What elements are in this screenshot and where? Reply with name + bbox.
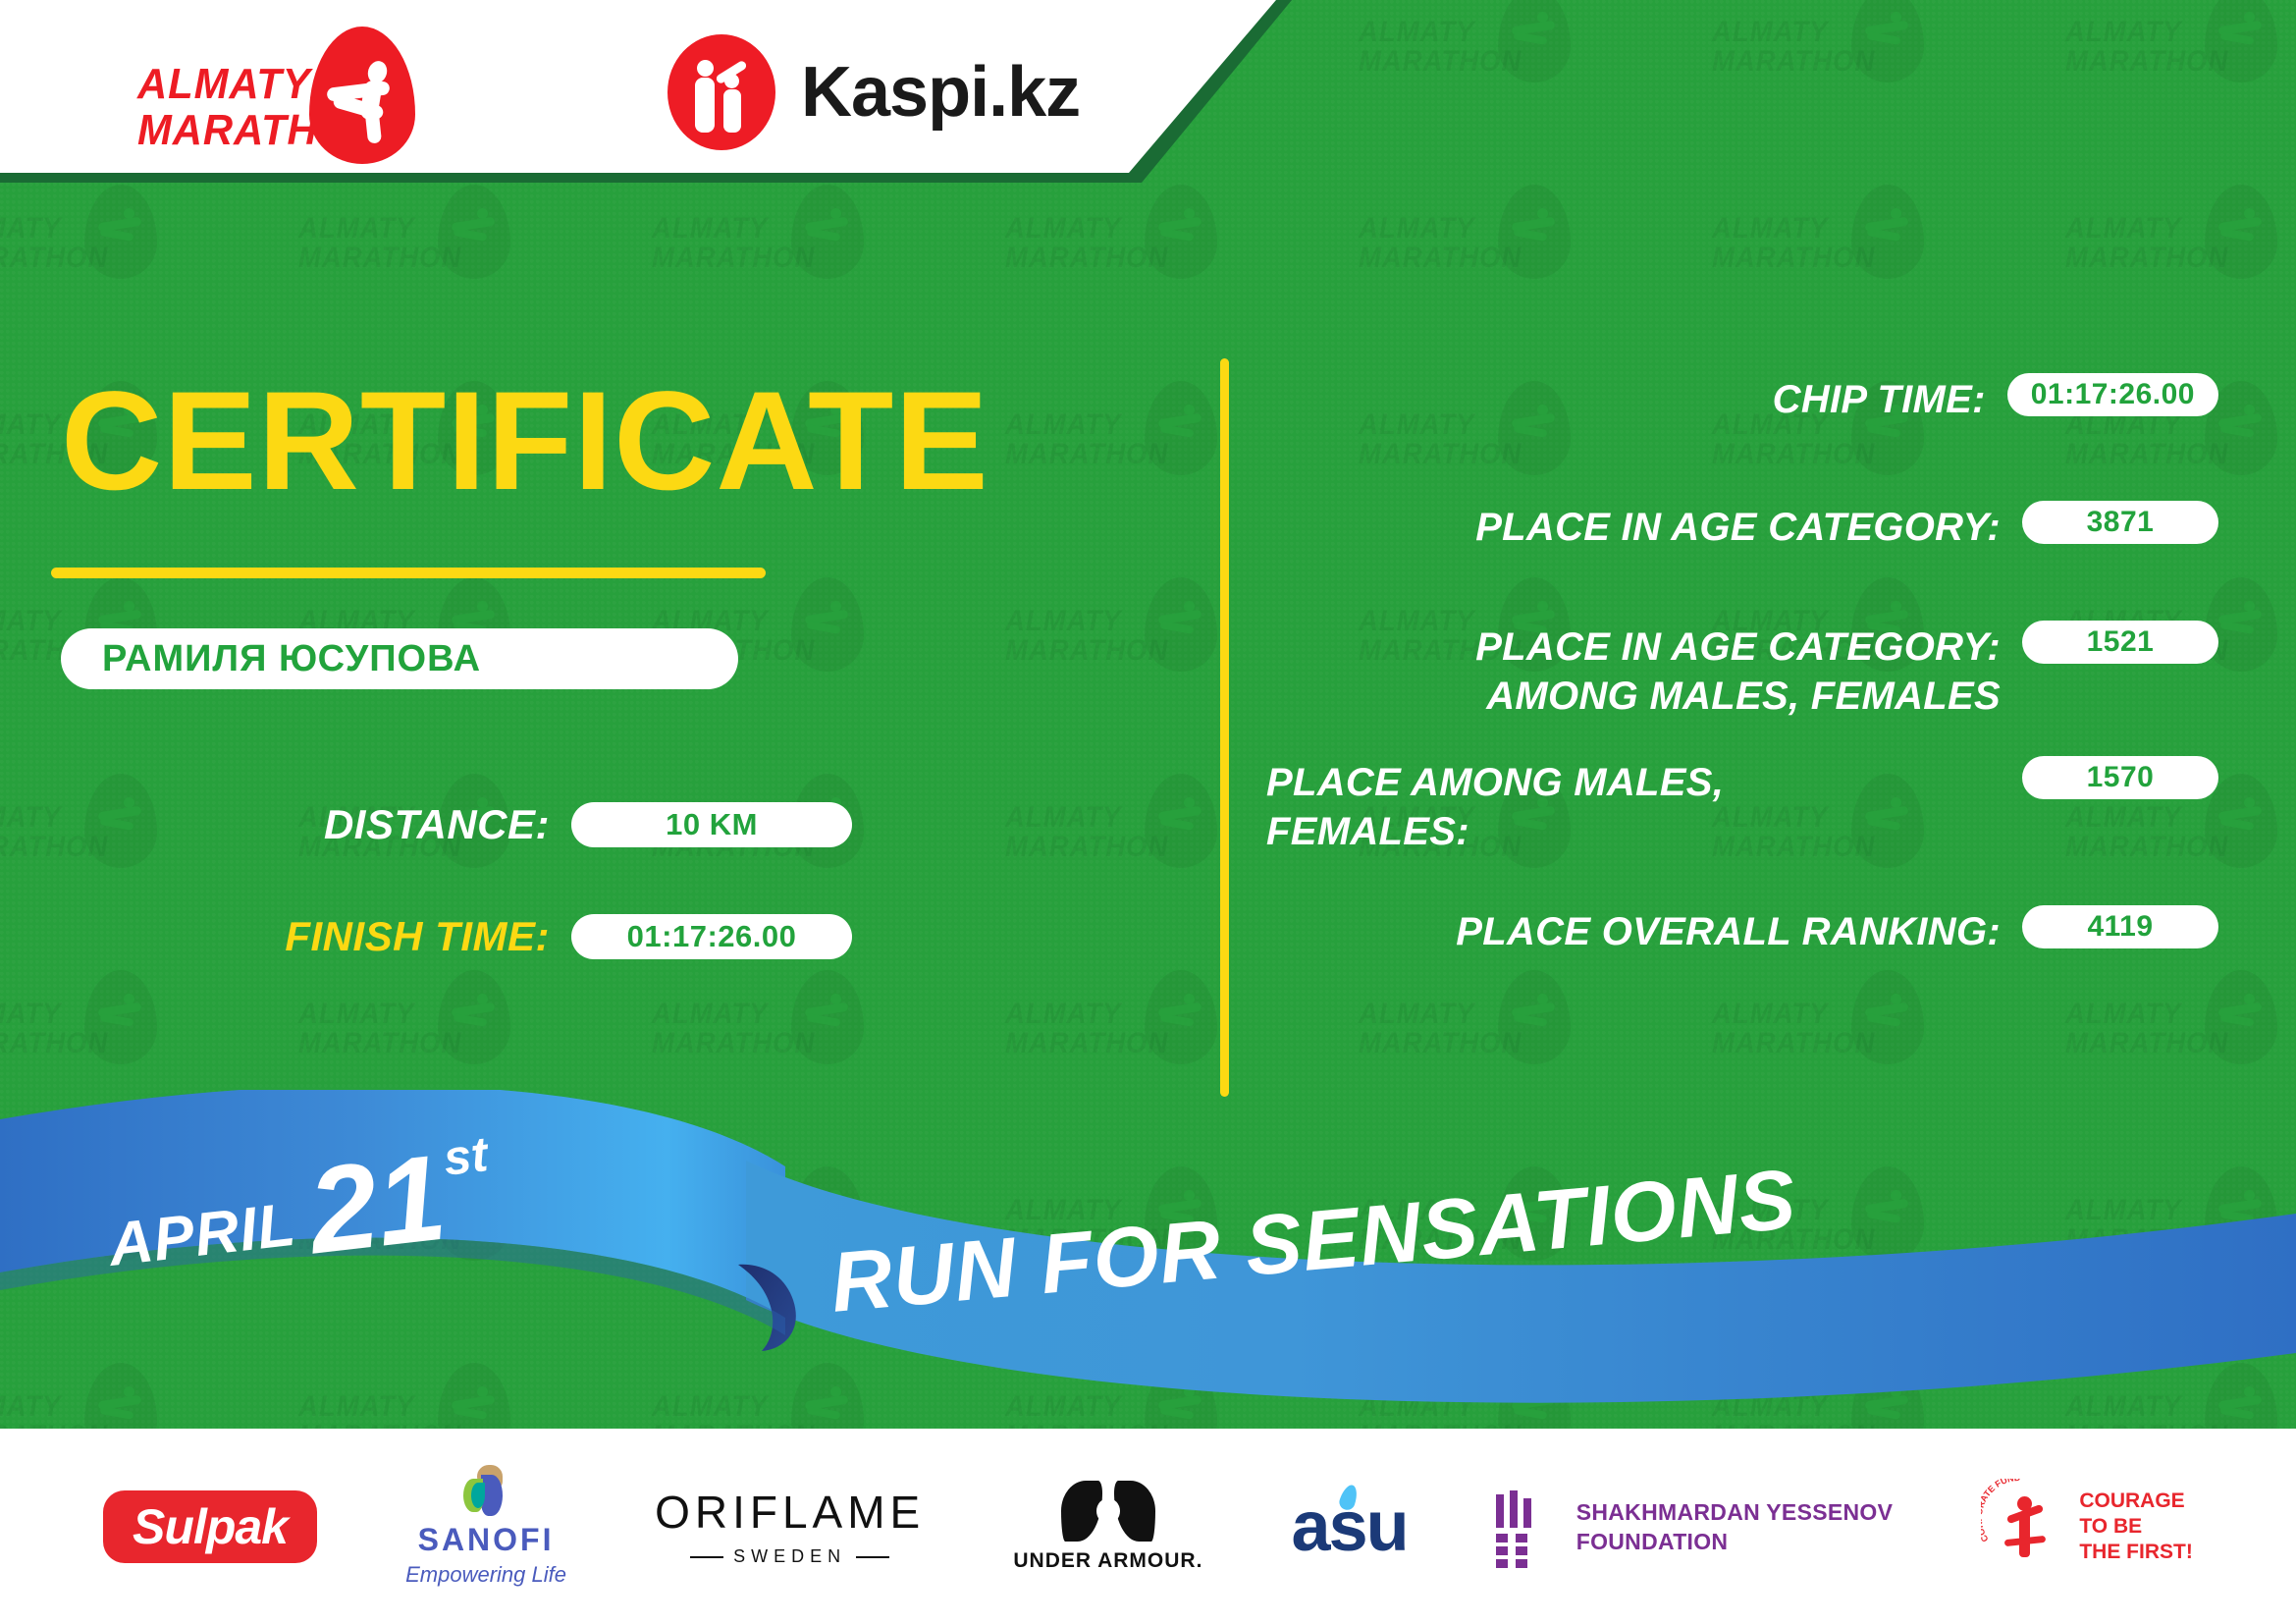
watermark-runner-icon xyxy=(1865,12,1910,51)
stat-row: PLACE IN AGE CATEGORY:AMONG MALES, FEMAL… xyxy=(1266,621,2218,721)
athlete-name-value: РАМИЛЯ ЮСУПОВА xyxy=(102,638,481,680)
watermark-runner-icon xyxy=(1512,12,1557,51)
yessenov-foundation-logo xyxy=(1496,1490,1555,1563)
page-title: CERTIFICATE xyxy=(61,368,989,515)
sponsor-oriflame: ORIFLAME SWEDEN xyxy=(655,1463,925,1591)
stat-row: PLACE OVERALL RANKING:4119 xyxy=(1266,905,2218,966)
sponsor-yessenov: SHAKHMARDAN YESSENOV FOUNDATION xyxy=(1496,1463,1894,1591)
almaty-marathon-logo: ALMATY MARATHON xyxy=(123,24,437,161)
watermark-runner-icon xyxy=(2218,405,2264,444)
watermark-runner-icon xyxy=(2218,12,2264,51)
divider-line-left xyxy=(690,1556,723,1558)
watermark-tile: ALMATYMARATHON xyxy=(2061,157,2296,353)
stat-row: PLACE AMONG MALES,FEMALES:1570 xyxy=(1266,756,2218,856)
stat-value: 01:17:26.00 xyxy=(2007,373,2218,416)
watermark-droplet-icon xyxy=(1851,1166,1924,1261)
distance-label: DISTANCE: xyxy=(0,801,550,848)
sponsor-sanofi: SANOFI Empowering Life xyxy=(405,1463,566,1591)
watermark-runner-icon xyxy=(2218,208,2264,247)
watermark-runner-icon xyxy=(2218,1190,2264,1229)
watermark-droplet-icon xyxy=(2205,1166,2277,1261)
event-day-ordinal: st xyxy=(441,1125,491,1187)
kaspi-people-icon xyxy=(667,34,775,150)
sanofi-wordmark: SANOFI xyxy=(418,1522,555,1558)
watermark-runner-icon xyxy=(2218,797,2264,837)
vertical-divider xyxy=(1220,358,1229,1097)
watermark-runner-icon xyxy=(2218,994,2264,1033)
sponsor-under-armour: UNDER ARMOUR. xyxy=(1013,1463,1202,1591)
athlete-name-field: РАМИЛЯ ЮСУПОВА xyxy=(61,628,738,689)
oriflame-sub: SWEDEN xyxy=(690,1546,889,1567)
watermark-droplet-icon xyxy=(2205,185,2277,279)
stats-column: CHIP TIME:01:17:26.00PLACE IN AGE CATEGO… xyxy=(1266,373,2218,1005)
watermark-text: ALMATYMARATHON xyxy=(1712,18,1875,77)
stat-value: 1521 xyxy=(2022,621,2218,664)
courage-fund-logo: CORPORATE FUND xyxy=(1981,1479,2065,1575)
yessenov-wordmark: SHAKHMARDAN YESSENOV FOUNDATION xyxy=(1576,1497,1894,1556)
watermark-runner-icon xyxy=(1512,208,1557,247)
watermark-text: ALMATYMARATHON xyxy=(2065,18,2228,77)
watermark-runner-icon xyxy=(2218,1386,2264,1426)
stat-row: PLACE IN AGE CATEGORY:3871 xyxy=(1266,501,2218,562)
distance-value: 10 KM xyxy=(571,802,852,847)
sponsor-sulpak: Sulpak xyxy=(103,1463,317,1591)
courage-runner-icon xyxy=(2006,1496,2044,1571)
under-armour-wordmark: UNDER ARMOUR. xyxy=(1013,1549,1202,1573)
asu-logo: asu xyxy=(1292,1487,1408,1567)
watermark-droplet-icon xyxy=(1851,0,1924,82)
watermark-text: ALMATYMARATHON xyxy=(1359,18,1522,77)
almaty-marathon-line1: ALMATY xyxy=(137,60,311,108)
stat-label: PLACE OVERALL RANKING: xyxy=(1266,905,2001,956)
watermark-droplet-icon xyxy=(2205,0,2277,82)
sulpak-logo: Sulpak xyxy=(103,1490,317,1563)
watermark-tile: ALMATYMARATHON xyxy=(1708,0,2061,157)
watermark-droplet-icon xyxy=(1498,185,1571,279)
kaspi-wordmark: Kaspi.kz xyxy=(801,52,1080,133)
event-month: APRIL xyxy=(105,1190,299,1280)
stat-value: 4119 xyxy=(2022,905,2218,948)
under-armour-logo xyxy=(1061,1481,1155,1542)
watermark-text: ALMATYMARATHON xyxy=(1359,214,1522,273)
finish-time-row: FINISH TIME: 01:17:26.00 xyxy=(0,913,942,960)
finish-time-value: 01:17:26.00 xyxy=(571,914,852,959)
watermark-runner-icon xyxy=(2218,601,2264,640)
certificate-canvas: ALMATYMARATHONALMATYMARATHONALMATYMARATH… xyxy=(0,0,2296,1624)
watermark-text: ALMATYMARATHON xyxy=(1712,1000,1875,1058)
watermark-droplet-icon xyxy=(1498,0,1571,82)
watermark-droplet-icon xyxy=(1851,185,1924,279)
sponsor-strip: Sulpak SANOFI Empowering Life ORIFLAME S… xyxy=(0,1429,2296,1624)
event-day: 21 xyxy=(303,1143,451,1268)
watermark-text: ALMATYMARATHON xyxy=(1712,214,1875,273)
watermark-tile: ALMATYMARATHON xyxy=(2061,0,2296,157)
sanofi-tagline: Empowering Life xyxy=(405,1562,566,1588)
sanofi-logo xyxy=(455,1465,516,1516)
stat-label: PLACE IN AGE CATEGORY: xyxy=(1266,501,2001,552)
header-logo-row: ALMATY MARATHON Kaspi.kz xyxy=(0,0,1139,185)
stat-value: 3871 xyxy=(2022,501,2218,544)
stat-label: PLACE IN AGE CATEGORY:AMONG MALES, FEMAL… xyxy=(1266,621,2001,721)
stat-value: 1570 xyxy=(2022,756,2218,799)
watermark-runner-icon xyxy=(1865,1190,1910,1229)
oriflame-country: SWEDEN xyxy=(733,1546,846,1567)
sponsor-asu: asu xyxy=(1292,1463,1408,1591)
divider-line-right xyxy=(856,1556,889,1558)
watermark-tile: ALMATYMARATHON xyxy=(1708,157,2061,353)
sponsor-courage-fund: CORPORATE FUND COURAGE TO BE THE FIRST! xyxy=(1981,1463,2193,1591)
stat-label: CHIP TIME: xyxy=(1266,373,1986,424)
watermark-text: ALMATYMARATHON xyxy=(1359,1000,1522,1058)
watermark-tile: ALMATYMARATHON xyxy=(1355,157,1708,353)
title-underline xyxy=(51,568,766,578)
stat-label: PLACE AMONG MALES,FEMALES: xyxy=(1266,756,2001,856)
watermark-tile: ALMATYMARATHON xyxy=(1355,0,1708,157)
distance-row: DISTANCE: 10 KM xyxy=(0,801,942,848)
watermark-runner-icon xyxy=(1865,208,1910,247)
watermark-runner-icon xyxy=(1865,1386,1910,1426)
watermark-text: ALMATYMARATHON xyxy=(2065,214,2228,273)
courage-slogan: COURAGE TO BE THE FIRST! xyxy=(2079,1489,2193,1565)
kaspi-logo: Kaspi.kz xyxy=(667,34,1080,150)
finish-time-label: FINISH TIME: xyxy=(0,913,550,960)
runner-figure-icon xyxy=(327,61,400,134)
watermark-tile: ALMATYMARATHON xyxy=(2061,1139,2296,1335)
watermark-runner-icon xyxy=(1512,1386,1557,1426)
watermark-text: ALMATYMARATHON xyxy=(2065,1000,2228,1058)
oriflame-wordmark: ORIFLAME xyxy=(655,1486,925,1539)
watermark-text: ALMATYMARATHON xyxy=(2065,1196,2228,1255)
stat-row: CHIP TIME:01:17:26.00 xyxy=(1266,373,2218,434)
